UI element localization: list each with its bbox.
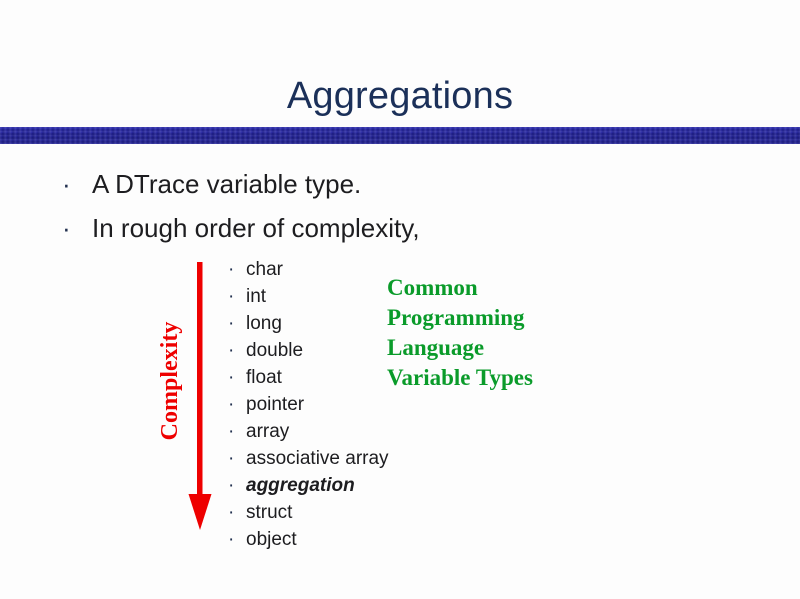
bullet-dot-icon: · bbox=[228, 283, 246, 310]
list-item-label: associative array bbox=[246, 445, 389, 472]
list-item-label: float bbox=[246, 364, 282, 391]
slide-canvas: Aggregations · A DTrace variable type. ·… bbox=[0, 0, 800, 599]
bullet-dot-icon: · bbox=[228, 445, 246, 472]
bullet-dot-icon: · bbox=[228, 418, 246, 445]
list-item-label: array bbox=[246, 418, 289, 445]
bullet-dot-icon: · bbox=[228, 526, 246, 553]
list-item-label: object bbox=[246, 526, 297, 553]
green-annotation: Common Programming Language Variable Typ… bbox=[387, 273, 533, 393]
list-item-label: In rough order of complexity, bbox=[92, 210, 420, 246]
list-item: · object bbox=[228, 526, 458, 553]
complexity-indicator: Complexity bbox=[140, 262, 220, 537]
main-bullet-list: · A DTrace variable type. · In rough ord… bbox=[58, 166, 578, 254]
list-item-label: int bbox=[246, 283, 266, 310]
title-divider-bar bbox=[0, 127, 800, 144]
list-item-label: char bbox=[246, 256, 283, 283]
list-item: · array bbox=[228, 418, 458, 445]
green-annotation-line: Variable Types bbox=[387, 363, 533, 393]
list-item-label: pointer bbox=[246, 391, 304, 418]
bullet-dot-icon: · bbox=[228, 391, 246, 418]
green-annotation-line: Programming bbox=[387, 303, 533, 333]
green-annotation-line: Language bbox=[387, 333, 533, 363]
list-item: · A DTrace variable type. bbox=[58, 166, 578, 202]
bullet-dot-icon: · bbox=[228, 337, 246, 364]
bullet-dot-icon: · bbox=[228, 499, 246, 526]
list-item: · pointer bbox=[228, 391, 458, 418]
page-title: Aggregations bbox=[0, 74, 800, 118]
list-item-label: double bbox=[246, 337, 303, 364]
bullet-dot-icon: · bbox=[228, 310, 246, 337]
list-item-label: struct bbox=[246, 499, 292, 526]
bullet-dot-icon: · bbox=[228, 472, 246, 499]
list-item: · associative array bbox=[228, 445, 458, 472]
complexity-label: Complexity bbox=[157, 315, 183, 447]
bullet-dot-icon: · bbox=[58, 210, 92, 246]
list-item-label: long bbox=[246, 310, 282, 337]
list-item-highlighted: · aggregation bbox=[228, 472, 458, 499]
list-item-label: A DTrace variable type. bbox=[92, 166, 361, 202]
bullet-dot-icon: · bbox=[228, 256, 246, 283]
down-arrow-icon bbox=[182, 262, 218, 534]
bullet-dot-icon: · bbox=[228, 364, 246, 391]
list-item: · In rough order of complexity, bbox=[58, 210, 578, 246]
green-annotation-line: Common bbox=[387, 273, 533, 303]
list-item: · struct bbox=[228, 499, 458, 526]
bullet-dot-icon: · bbox=[58, 166, 92, 202]
list-item-label: aggregation bbox=[246, 472, 355, 499]
